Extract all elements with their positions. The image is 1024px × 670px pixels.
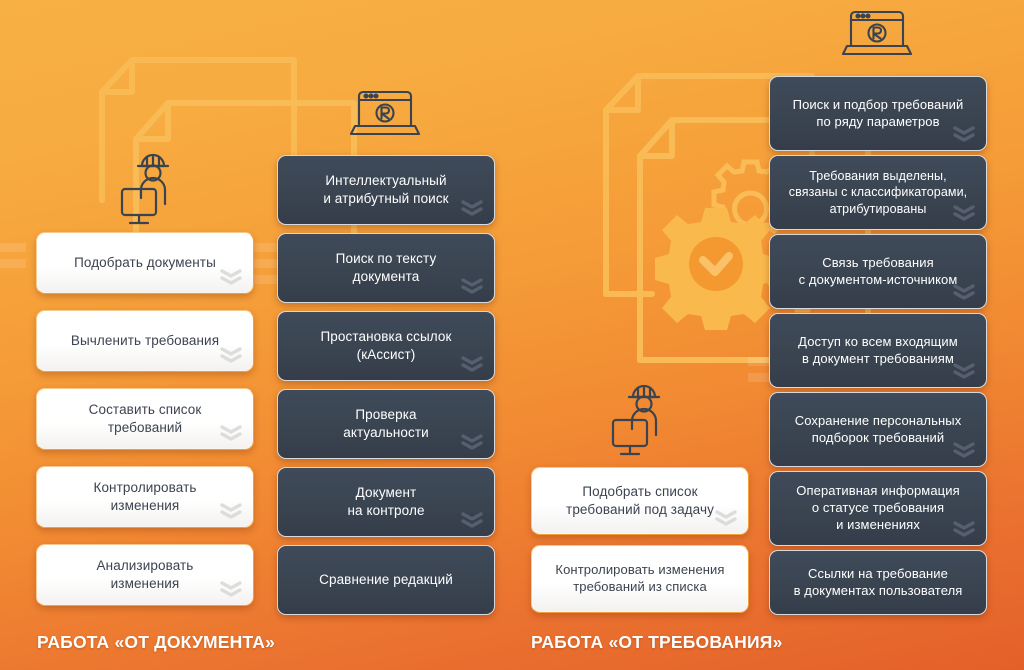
double-chevron-down-icon [218,344,244,364]
double-chevron-down-icon [459,275,485,295]
card-right-system-3[interactable]: Связь требования с документом-источником [769,234,987,309]
card-right-system-5[interactable]: Сохранение персональных подборок требова… [769,392,987,467]
card-label: Поиск и подбор требований по ряду параме… [793,97,964,131]
double-chevron-down-icon [218,422,244,442]
double-chevron-down-icon [218,578,244,598]
card-label: Документ на контроле [347,484,424,519]
card-right-system-7[interactable]: Ссылки на требование в документах пользо… [769,550,987,615]
decor-connector-bar [0,259,26,268]
worker-at-monitor-icon-right [607,383,673,459]
infographic-canvas: Подобрать документы Вычленить требования… [0,0,1024,670]
card-left-system-6[interactable]: Сравнение редакций [277,545,495,615]
card-left-user-action-4[interactable]: Контролировать изменения [36,466,254,528]
card-right-system-2[interactable]: Требования выделены, связаны с классифик… [769,155,987,230]
card-label: Подобрать список требований под задачу [566,483,714,518]
card-label: Связь требования с документом-источником [799,255,958,289]
card-label: Интеллектуальный и атрибутный поиск [323,172,448,207]
card-left-system-1[interactable]: Интеллектуальный и атрибутный поиск [277,155,495,225]
card-right-system-1[interactable]: Поиск и подбор требований по ряду параме… [769,76,987,151]
card-label: Сохранение персональных подборок требова… [795,413,962,447]
card-label: Ссылки на требование в документах пользо… [794,566,963,600]
worker-at-monitor-icon-left [116,152,182,228]
card-label: Контролировать изменения требований из с… [555,562,724,596]
laptop-registered-icon-right [841,4,913,60]
card-right-user-action-2[interactable]: Контролировать изменения требований из с… [531,545,749,613]
card-left-user-action-2[interactable]: Вычленить требования [36,310,254,372]
card-label: Доступ ко всем входящим в документ требо… [798,334,958,368]
card-right-user-action-1[interactable]: Подобрать список требований под задачу [531,467,749,535]
double-chevron-down-icon [459,353,485,373]
card-label: Вычленить требования [71,332,219,350]
laptop-registered-icon-left [349,84,421,140]
decor-connector-bar [0,243,26,252]
card-label: Поиск по тексту документа [336,250,437,285]
card-left-system-4[interactable]: Проверка актуальности [277,389,495,459]
double-chevron-down-icon [459,509,485,529]
card-label: Анализировать изменения [97,557,194,592]
card-left-user-action-1[interactable]: Подобрать документы [36,232,254,294]
double-chevron-down-icon [459,197,485,217]
card-left-user-action-3[interactable]: Составить список требований [36,388,254,450]
card-label: Составить список требований [89,401,202,436]
card-label: Требования выделены, связаны с классифик… [789,168,968,217]
card-label: Оперативная информация о статусе требова… [796,483,959,534]
card-left-system-5[interactable]: Документ на контроле [277,467,495,537]
card-label: Проверка актуальности [343,406,429,441]
card-label: Сравнение редакций [319,571,453,589]
card-left-user-action-5[interactable]: Анализировать изменения [36,544,254,606]
double-chevron-down-icon [459,431,485,451]
double-chevron-down-icon [218,500,244,520]
card-right-system-4[interactable]: Доступ ко всем входящим в документ требо… [769,313,987,388]
footer-title-right: РАБОТА «ОТ ТРЕБОВАНИЯ» [531,632,783,653]
double-chevron-down-icon [218,266,244,286]
footer-title-left: РАБОТА «ОТ ДОКУМЕНТА» [37,632,275,653]
card-label: Подобрать документы [74,254,216,272]
double-chevron-down-icon [713,507,739,527]
card-label: Контролировать изменения [93,479,196,514]
card-right-system-6[interactable]: Оперативная информация о статусе требова… [769,471,987,546]
card-label: Простановка ссылок (кАссист) [320,328,451,363]
card-left-system-2[interactable]: Поиск по тексту документа [277,233,495,303]
card-left-system-3[interactable]: Простановка ссылок (кАссист) [277,311,495,381]
